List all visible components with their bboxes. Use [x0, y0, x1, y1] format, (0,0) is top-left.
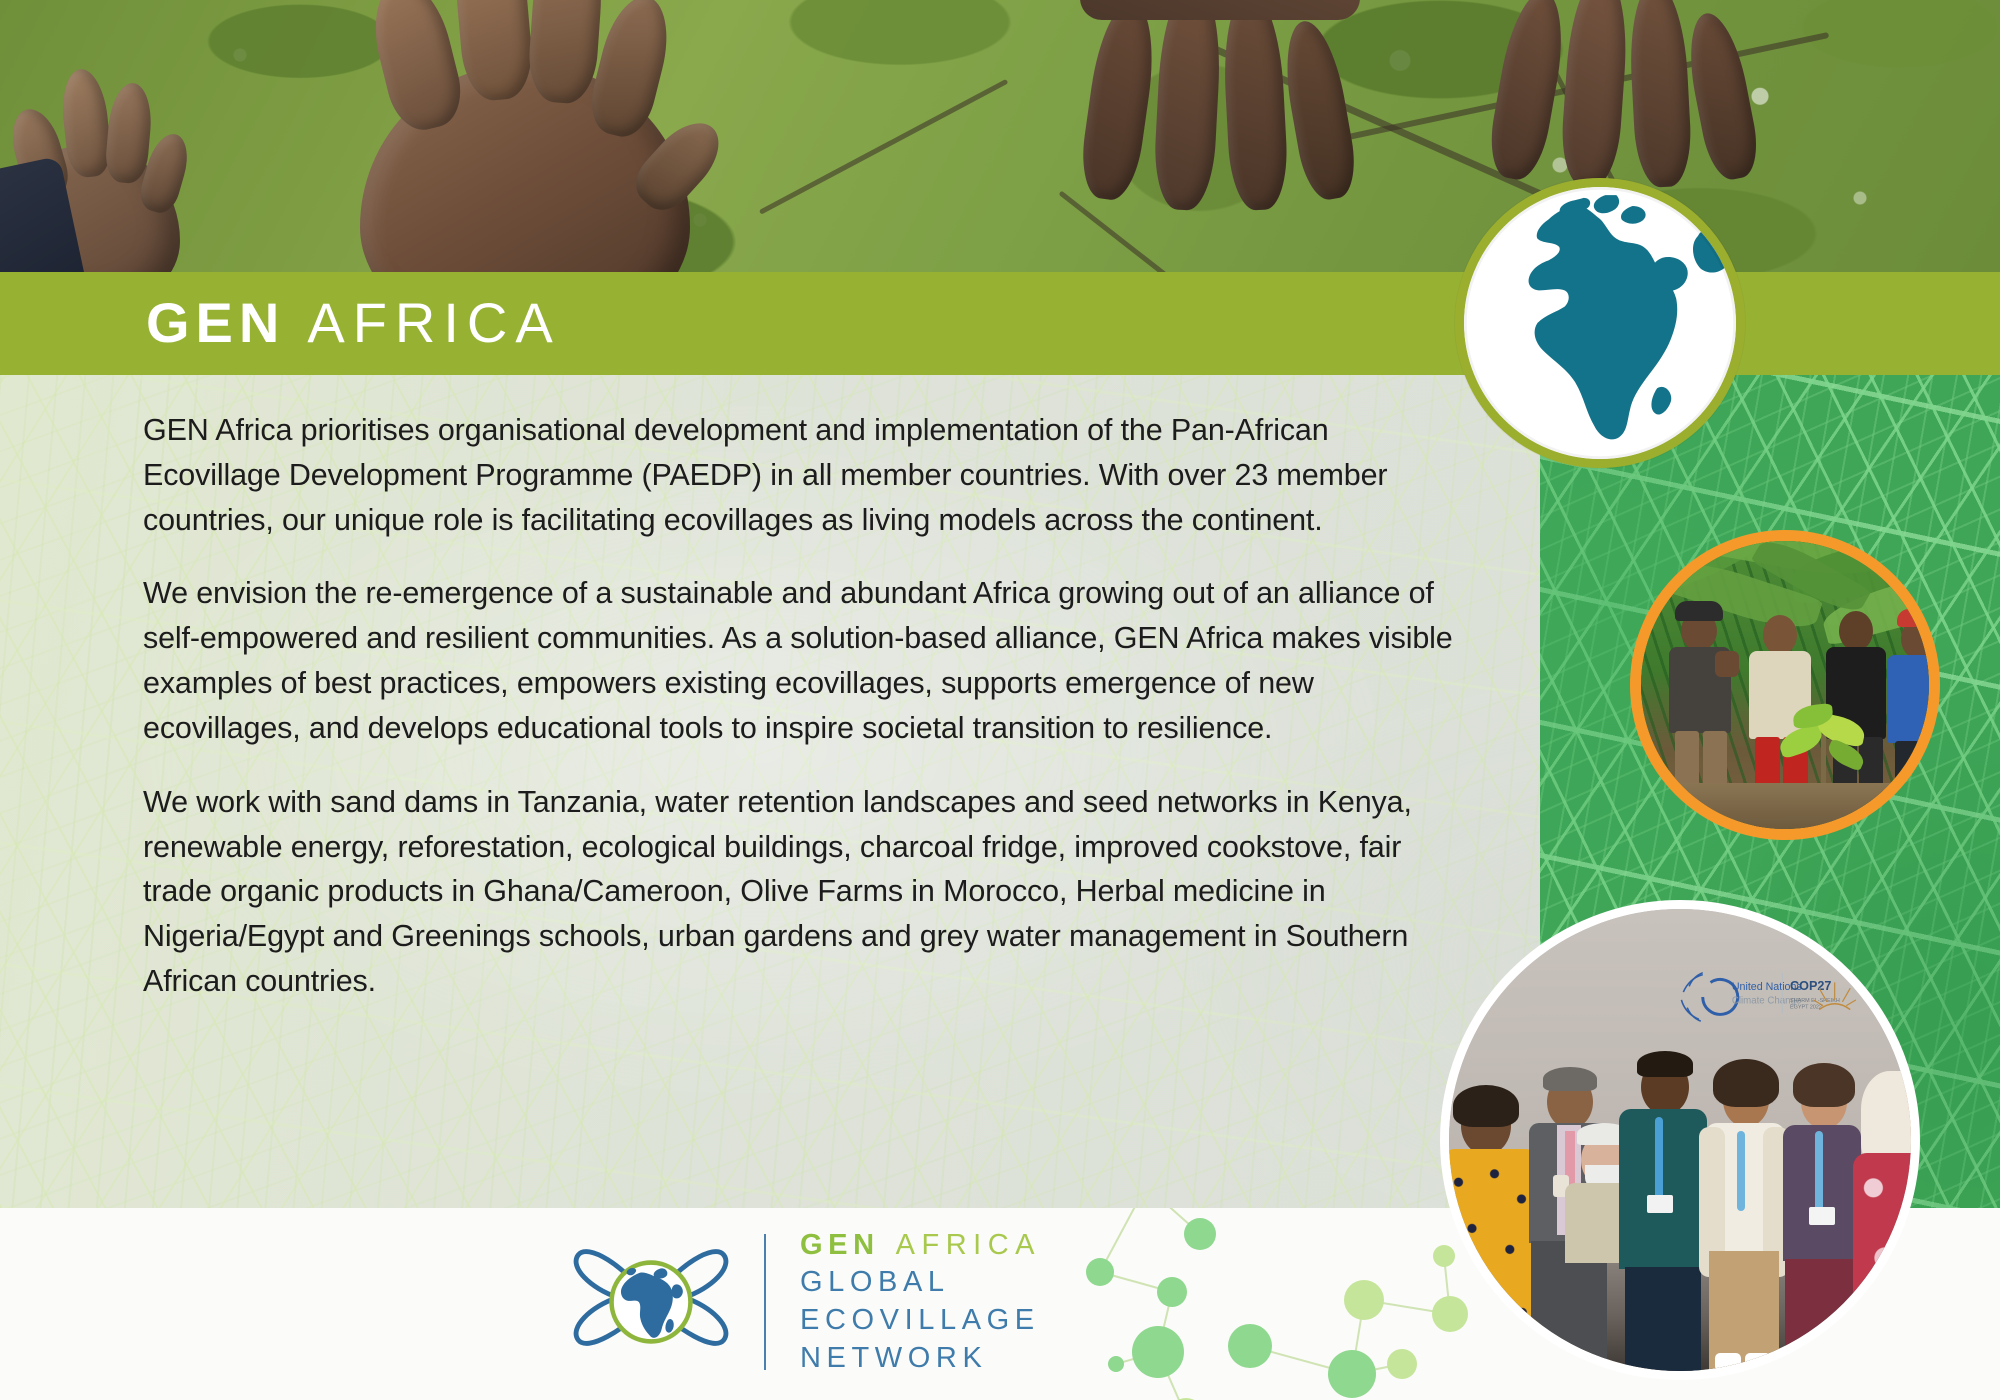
photo-cop27-delegation: United Nations Climate Change COP27 SHAR…: [1440, 900, 1920, 1380]
logo-line-network: NETWORK: [800, 1340, 1041, 1378]
photo-youth-tree-planting: [1630, 530, 1940, 840]
page-title: GENAFRICA: [146, 290, 561, 355]
hand-palm-center: [300, 0, 860, 275]
gen-africa-info-card: GENAFRICA: [0, 0, 2000, 1400]
paragraph-1: GEN Africa prioritises organisational de…: [143, 408, 1463, 542]
page-title-africa: AFRICA: [307, 291, 560, 354]
globe-africa-icon: [1455, 178, 1745, 468]
body-copy: GEN Africa prioritises organisational de…: [143, 408, 1463, 1004]
svg-text:EGYPT 2022: EGYPT 2022: [1790, 1004, 1822, 1010]
logo-africa: AFRICA: [896, 1229, 1041, 1261]
paragraph-3: We work with sand dams in Tanzania, wate…: [143, 780, 1463, 1004]
logo-line-ecovillage: ECOVILLAGE: [800, 1302, 1041, 1340]
logo-gen: GEN: [800, 1229, 880, 1261]
hand-palm-left: [0, 45, 220, 275]
svg-text:COP27: COP27: [1790, 979, 1831, 993]
hand-fingers-right-a: [1070, 0, 1500, 240]
page-title-gen: GEN: [146, 291, 285, 354]
gen-butterfly-globe-logo: [560, 1218, 742, 1386]
hand-fingers-right-b: [1480, 0, 1910, 200]
gen-footer-logo[interactable]: GENAFRICA GLOBAL ECOVILLAGE NETWORK: [560, 1212, 1041, 1392]
logo-line-gen-africa: GENAFRICA: [800, 1227, 1041, 1265]
logo-line-global: GLOBAL: [800, 1264, 1041, 1302]
paragraph-2: We envision the re-emergence of a sustai…: [143, 571, 1463, 750]
logo-divider: [764, 1234, 766, 1370]
